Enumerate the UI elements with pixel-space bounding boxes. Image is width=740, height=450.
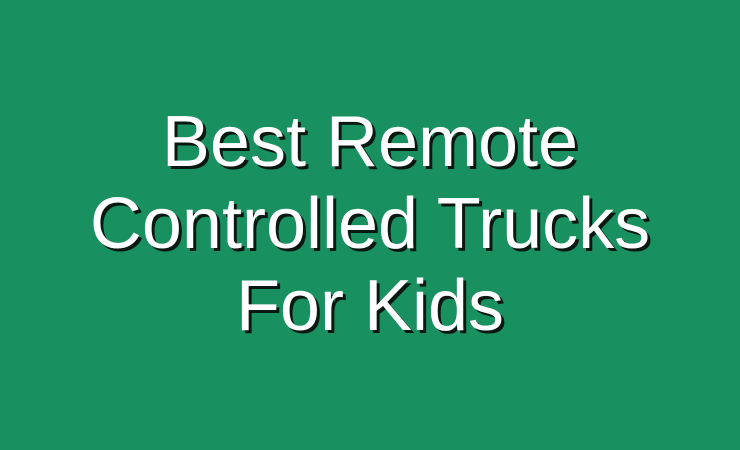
page-title: Best Remote Controlled Trucks For Kids	[0, 101, 740, 347]
title-line-1: Best Remote	[8, 101, 732, 183]
title-line-2: Controlled Trucks	[8, 183, 732, 265]
title-line-3: For Kids	[8, 265, 732, 347]
title-card: Best Remote Controlled Trucks For Kids	[0, 0, 740, 450]
